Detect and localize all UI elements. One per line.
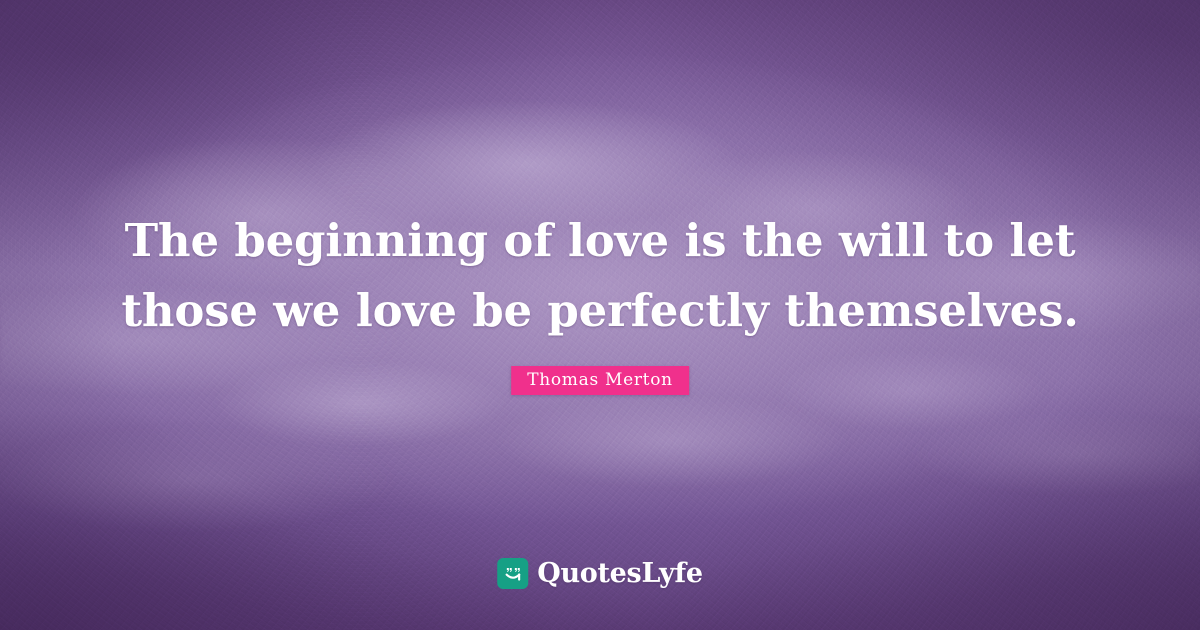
quote-smiley-icon <box>497 558 528 589</box>
quote-block: The beginning of love is the will to let… <box>0 206 1200 346</box>
quote-card: The beginning of love is the will to let… <box>0 0 1200 630</box>
card-content: The beginning of love is the will to let… <box>0 0 1200 630</box>
author-badge: Thomas Merton <box>511 366 689 395</box>
quote-line-2: those we love be perfectly themselves. <box>120 276 1080 346</box>
quote-line-1: The beginning of love is the will to let <box>120 206 1080 276</box>
brand-logo[interactable]: QuotesLyfe <box>497 558 703 589</box>
brand-name: QuotesLyfe <box>537 560 703 587</box>
